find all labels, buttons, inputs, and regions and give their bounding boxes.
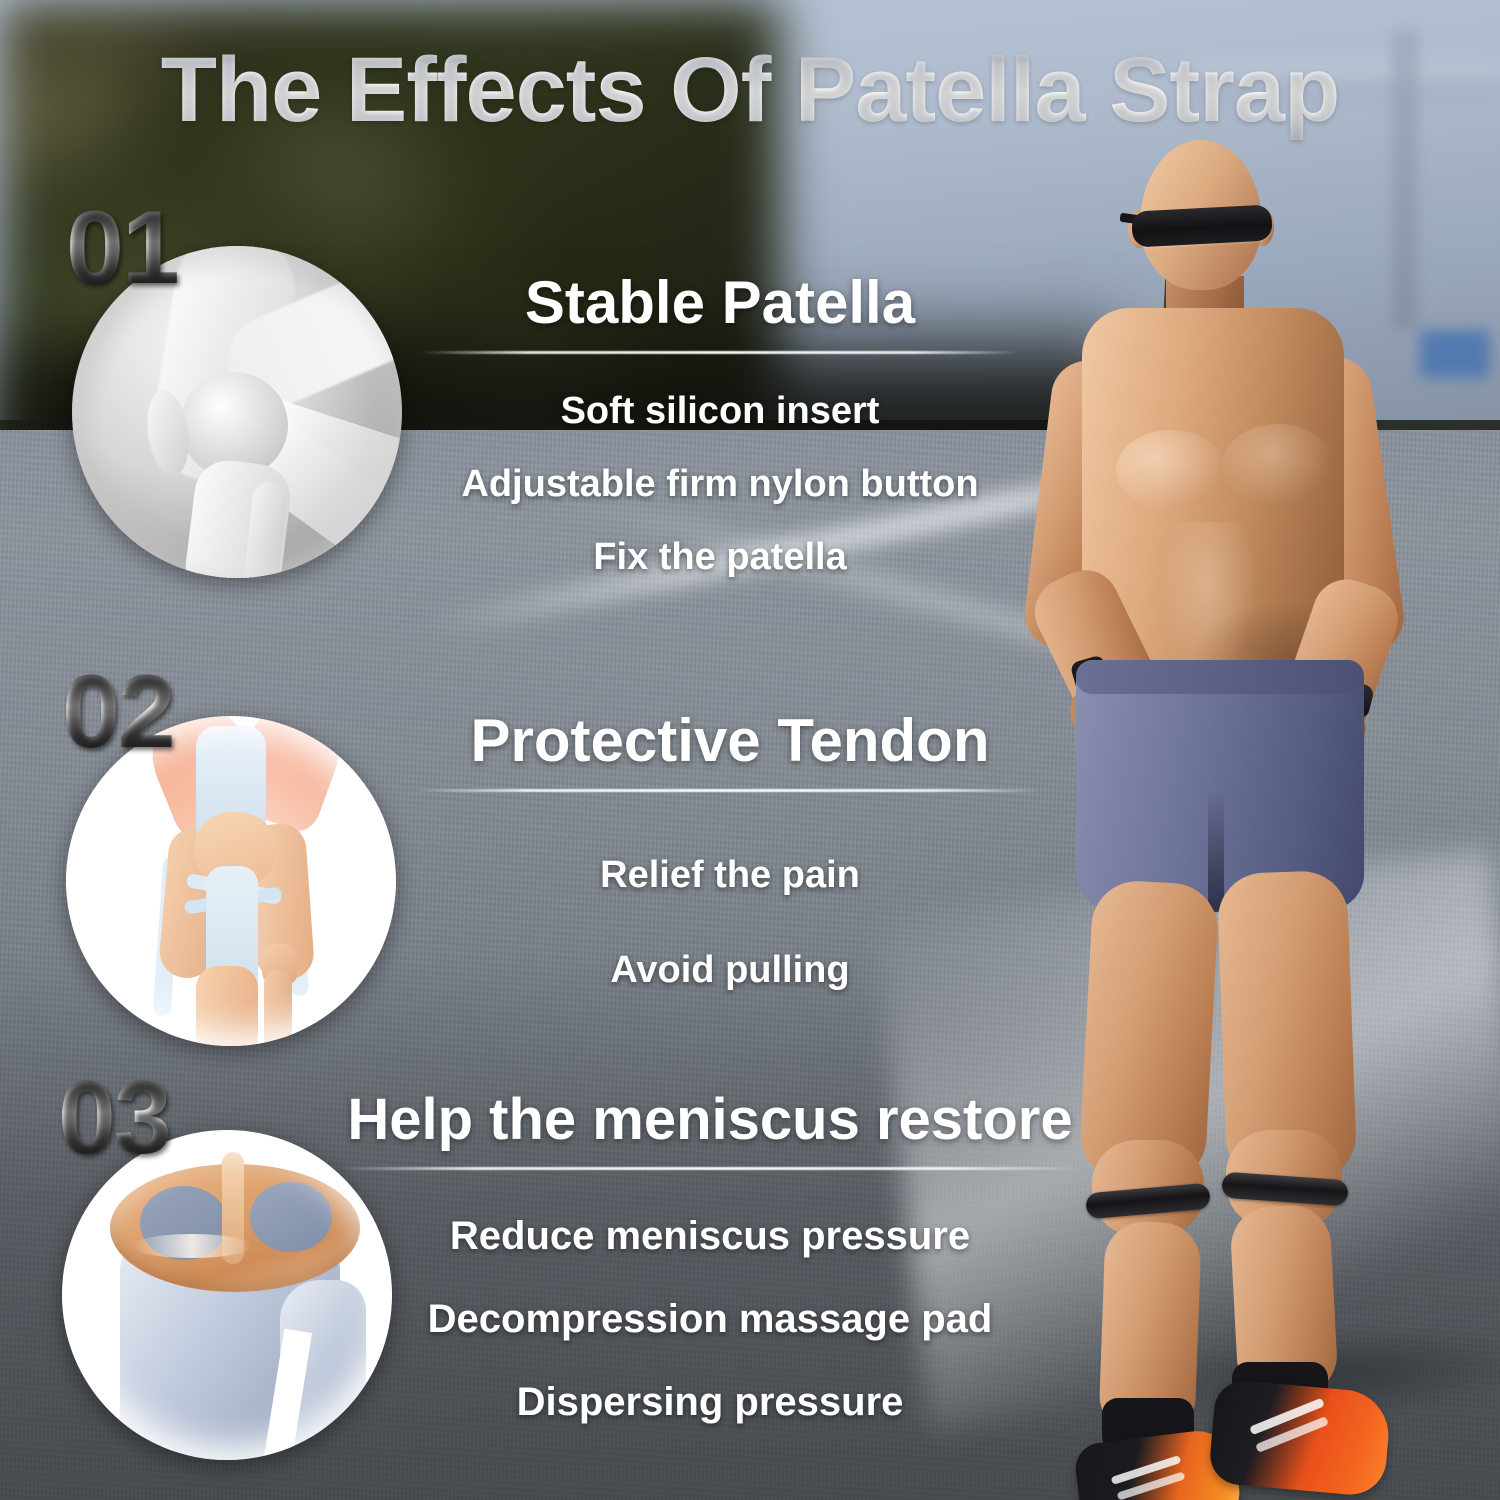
section-number-02: 02 <box>62 660 174 764</box>
section-number-03: 03 <box>58 1066 170 1170</box>
section-03-divider <box>340 1167 1080 1170</box>
section-03-bullet-3: Dispersing pressure <box>320 1380 1100 1425</box>
chest-highlight-left <box>1116 430 1226 510</box>
section-01-bullet-1: Soft silicon insert <box>400 390 1040 433</box>
section-01-bullet-3: Fix the patella <box>400 536 1040 579</box>
section-01-divider <box>420 351 1020 354</box>
section-01-heading: Stable Patella <box>400 268 1040 337</box>
page-title: The Effects Of Patella Strap <box>0 38 1500 143</box>
section-01-bullet-2: Adjustable firm nylon button <box>400 463 1040 506</box>
section-02-divider <box>415 789 1045 792</box>
section-02-bullet-2: Avoid pulling <box>400 949 1060 992</box>
section-02-text: Protective Tendon Relief the pain Avoid … <box>400 706 1060 992</box>
section-03-bullet-2: Decompression massage pad <box>320 1297 1100 1342</box>
infographic-canvas: The Effects Of Patella Strap 01 Stable P… <box>0 0 1500 1500</box>
running-shoe-right <box>1208 1379 1392 1498</box>
section-02-heading: Protective Tendon <box>400 706 1060 775</box>
section-02-bullet-1: Relief the pain <box>400 854 1060 897</box>
section-number-01: 01 <box>66 196 178 300</box>
shorts-split <box>1208 790 1224 912</box>
chest-highlight-right <box>1222 424 1334 506</box>
section-03-bullet-1: Reduce meniscus pressure <box>320 1214 1100 1259</box>
section-03-text: Help the meniscus restore Reduce meniscu… <box>320 1086 1100 1425</box>
section-01-text: Stable Patella Soft silicon insert Adjus… <box>400 268 1040 579</box>
section-03-heading: Help the meniscus restore <box>320 1086 1100 1153</box>
shorts-waistband <box>1076 660 1364 694</box>
sunglasses-icon <box>1131 204 1273 247</box>
